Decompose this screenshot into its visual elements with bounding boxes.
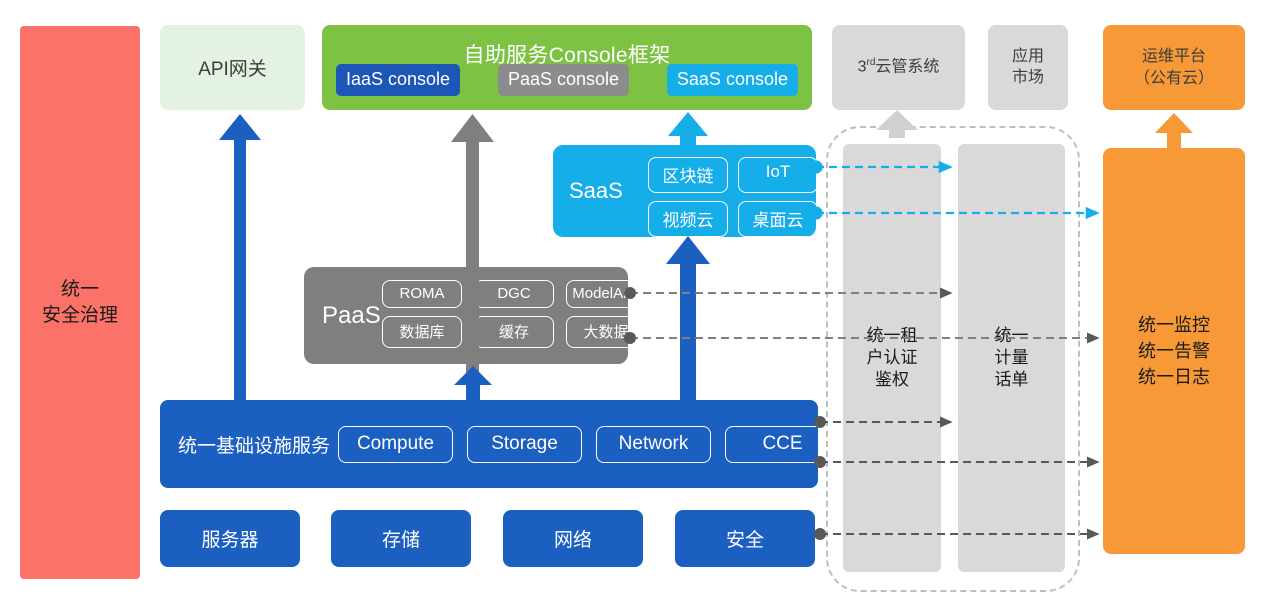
arrow-ops-panel-to-ops-platform	[1155, 113, 1193, 150]
unified-metering-line2: 计量	[995, 347, 1029, 369]
paas-service-modelarts[interactable]: ModelArts	[566, 280, 646, 308]
infra-service-cce[interactable]: CCE	[725, 426, 840, 463]
paas-service-cache[interactable]: 缓存	[474, 316, 554, 348]
infra-service-network[interactable]: Network	[596, 426, 711, 463]
unified-tenant-auth-column[interactable]: 统一租 户认证 鉴权	[843, 144, 941, 572]
third-party-cloud-mgmt-box[interactable]: 3rd云管系统	[832, 25, 965, 110]
resource-box-server[interactable]: 服务器	[160, 510, 300, 567]
resource-box-storage[interactable]: 存储	[331, 510, 471, 567]
app-market-line2: 市场	[1012, 68, 1044, 89]
paas-service-database[interactable]: 数据库	[382, 316, 462, 348]
resource-label-storage: 存储	[382, 525, 420, 552]
ops-platform-public-cloud-box[interactable]: 运维平台 （公有云）	[1103, 25, 1245, 110]
paas-console-chip[interactable]: PaaS console	[498, 64, 629, 96]
saas-service-desktop-cloud[interactable]: 桌面云	[738, 201, 818, 237]
unified-infrastructure-bar: 统一基础设施服务 Compute Storage Network CCE	[160, 400, 818, 488]
resource-box-network[interactable]: 网络	[503, 510, 643, 567]
ops-platform-line2: （公有云）	[1134, 68, 1214, 90]
resource-label-server: 服务器	[201, 525, 258, 552]
saas-service-grid: 区块链 IoT 视频云 桌面云	[648, 157, 818, 237]
paas-service-dgc[interactable]: DGC	[474, 280, 554, 308]
infra-service-storage[interactable]: Storage	[467, 426, 582, 463]
arrow-infra-to-paas	[454, 366, 492, 401]
console-chip-row: IaaS console PaaS console SaaS console	[336, 64, 798, 96]
unified-tenant-auth-line1: 统一租	[867, 325, 918, 347]
resource-label-network: 网络	[554, 525, 592, 552]
arrow-infra-to-api-gateway	[219, 114, 261, 400]
resource-box-security[interactable]: 安全	[675, 510, 815, 567]
unified-metering-line1: 统一	[995, 325, 1029, 347]
security-governance-panel: 统一 安全治理	[20, 26, 140, 579]
unified-monitoring-panel: 统一监控 统一告警 统一日志	[1103, 148, 1245, 554]
app-market-box[interactable]: 应用 市场	[988, 25, 1068, 110]
unified-tenant-auth-line2: 户认证	[867, 347, 918, 369]
security-governance-line1: 统一	[42, 277, 118, 303]
architecture-diagram: 统一 安全治理 API网关 自助服务Console框架 IaaS console…	[0, 0, 1265, 605]
api-gateway-box[interactable]: API网关	[160, 25, 305, 110]
infrastructure-service-row: Compute Storage Network CCE	[338, 426, 840, 463]
resource-label-security: 安全	[726, 525, 764, 552]
ops-platform-line1: 运维平台	[1134, 46, 1214, 68]
saas-service-video-cloud[interactable]: 视频云	[648, 201, 728, 237]
iaas-console-chip[interactable]: IaaS console	[336, 64, 460, 96]
paas-layer-label: PaaS	[322, 302, 381, 330]
security-governance-line2: 安全治理	[42, 303, 118, 329]
saas-service-iot[interactable]: IoT	[738, 157, 818, 193]
arrow-infra-to-saas	[666, 236, 710, 400]
paas-service-bigdata[interactable]: 大数据	[566, 316, 646, 348]
infra-service-compute[interactable]: Compute	[338, 426, 453, 463]
unified-metering-billing-column[interactable]: 统一 计量 话单	[958, 144, 1065, 572]
saas-layer-label: SaaS	[569, 178, 623, 204]
unified-monitoring-line2: 统一告警	[1138, 338, 1210, 364]
paas-layer-box: PaaS ROMA DGC ModelArts 数据库 缓存 大数据	[304, 267, 628, 364]
saas-layer-box: SaaS 区块链 IoT 视频云 桌面云	[553, 145, 816, 237]
paas-service-grid: ROMA DGC ModelArts 数据库 缓存 大数据	[382, 280, 646, 348]
app-market-line1: 应用	[1012, 47, 1044, 68]
unified-monitoring-line1: 统一监控	[1138, 312, 1210, 338]
paas-service-roma[interactable]: ROMA	[382, 280, 462, 308]
api-gateway-label: API网关	[198, 54, 267, 81]
unified-metering-line3: 话单	[995, 369, 1029, 391]
third-party-cloud-mgmt-label: 3rd云管系统	[858, 56, 940, 78]
saas-service-blockchain[interactable]: 区块链	[648, 157, 728, 193]
arrow-saas-to-console	[668, 112, 708, 145]
unified-monitoring-line3: 统一日志	[1138, 364, 1210, 390]
self-service-console-frame: 自助服务Console框架 IaaS console PaaS console …	[322, 25, 812, 110]
unified-infrastructure-label: 统一基础设施服务	[178, 431, 330, 458]
unified-tenant-auth-line3: 鉴权	[867, 369, 918, 391]
saas-console-chip[interactable]: SaaS console	[667, 64, 798, 96]
